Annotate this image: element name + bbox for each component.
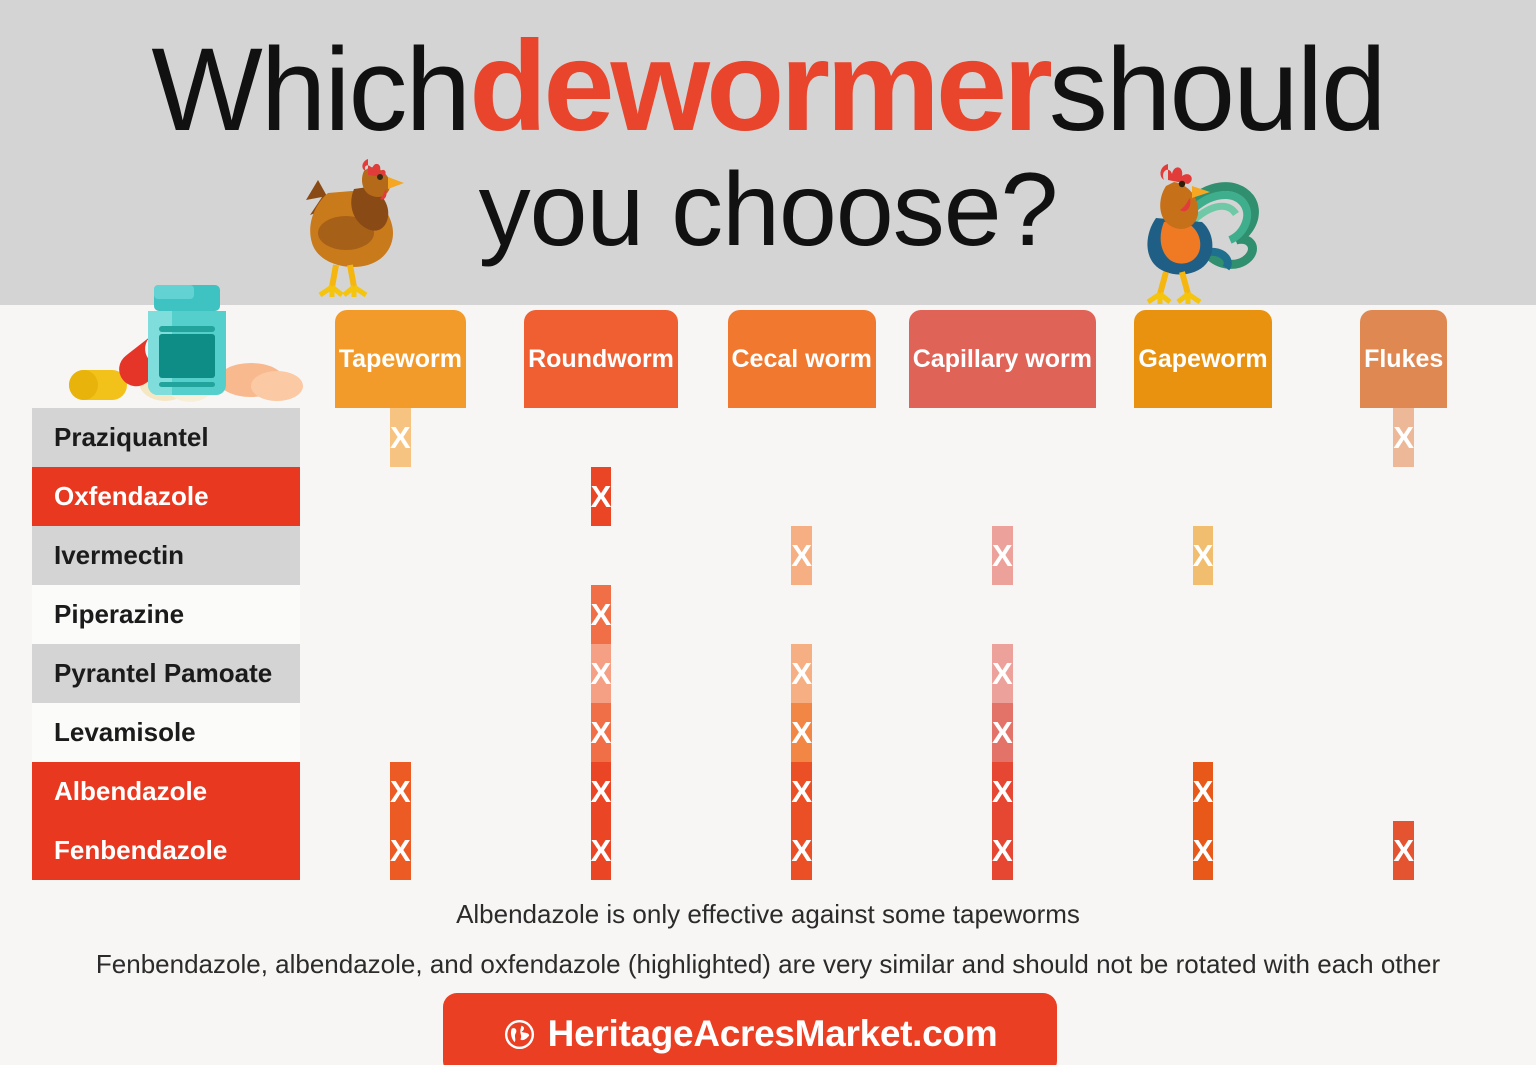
row-label-levamisole: Levamisole [32, 703, 300, 762]
cell-albendazole-gapeworm: X [1193, 762, 1214, 821]
globe-icon [503, 1018, 536, 1051]
table-row: Pyrantel PamoateXXX [32, 644, 1504, 703]
hen-icon [288, 145, 418, 300]
column-header-gapeworm: Gapeworm [1134, 310, 1271, 408]
table-row: IvermectinXXX [32, 526, 1504, 585]
table-row: OxfendazoleX [32, 467, 1504, 526]
brand-label: HeritageAcresMarket.com [548, 1013, 998, 1055]
cell-albendazole-cecal-worm: X [791, 762, 812, 821]
column-header-flukes: Flukes [1360, 310, 1447, 408]
cell-pyrantel-pamoate-cecal-worm: X [791, 644, 812, 703]
row-label-piperazine: Piperazine [32, 585, 300, 644]
table-body: PraziquantelXXOxfendazoleXIvermectinXXXP… [32, 408, 1504, 880]
row-label-fenbendazole: Fenbendazole [32, 821, 300, 880]
cell-albendazole-capillary-worm: X [992, 762, 1013, 821]
table-header-row: Tapeworm Roundworm Cecal worm Capillary … [32, 310, 1504, 408]
cell-ivermectin-gapeworm: X [1193, 526, 1214, 585]
table-row: PraziquantelXX [32, 408, 1504, 467]
page-title-line2: you choose? [0, 158, 1536, 262]
cell-pyrantel-pamoate-capillary-worm: X [992, 644, 1013, 703]
table-row: AlbendazoleXXXXX [32, 762, 1504, 821]
dewormer-efficacy-table: Tapeworm Roundworm Cecal worm Capillary … [32, 310, 1504, 880]
title-word-should: should [1049, 24, 1385, 156]
cell-praziquantel-flukes: X [1393, 408, 1414, 467]
cell-fenbendazole-cecal-worm: X [791, 821, 812, 880]
cell-oxfendazole-roundworm: X [591, 467, 612, 526]
cell-praziquantel-tapeworm: X [390, 408, 411, 467]
column-header-capillary-worm: Capillary worm [909, 310, 1096, 408]
row-label-pyrantel-pamoate: Pyrantel Pamoate [32, 644, 300, 703]
title-word-dewormer: dewormer [469, 15, 1049, 158]
title-word-which: Which [151, 24, 469, 156]
cell-levamisole-roundworm: X [591, 703, 612, 762]
cell-fenbendazole-flukes: X [1393, 821, 1414, 880]
row-label-praziquantel: Praziquantel [32, 408, 300, 467]
footnote-rotation: Fenbendazole, albendazole, and oxfendazo… [0, 949, 1536, 980]
brand-button[interactable]: HeritageAcresMarket.com [443, 993, 1057, 1065]
cell-albendazole-roundworm: X [591, 762, 612, 821]
table-row: FenbendazoleXXXXXX [32, 821, 1504, 880]
row-label-albendazole: Albendazole [32, 762, 300, 821]
cell-levamisole-cecal-worm: X [791, 703, 812, 762]
cell-fenbendazole-tapeworm: X [390, 821, 411, 880]
table-row: LevamisoleXXX [32, 703, 1504, 762]
cell-albendazole-tapeworm: X [390, 762, 411, 821]
column-header-tapeworm: Tapeworm [335, 310, 466, 408]
row-label-oxfendazole: Oxfendazole [32, 467, 300, 526]
cell-levamisole-capillary-worm: X [992, 703, 1013, 762]
cell-ivermectin-capillary-worm: X [992, 526, 1013, 585]
cell-pyrantel-pamoate-roundworm: X [591, 644, 612, 703]
rooster-icon [1110, 140, 1260, 305]
cell-fenbendazole-capillary-worm: X [992, 821, 1013, 880]
column-header-cecal-worm: Cecal worm [728, 310, 876, 408]
infographic-root: Whichdewormershould you choose? [0, 0, 1536, 1065]
page-title-line1: Whichdewormershould [0, 28, 1536, 149]
footnote-albendazole: Albendazole is only effective against so… [0, 899, 1536, 930]
cell-fenbendazole-roundworm: X [591, 821, 612, 880]
table-row: PiperazineX [32, 585, 1504, 644]
cell-fenbendazole-gapeworm: X [1193, 821, 1214, 880]
row-label-ivermectin: Ivermectin [32, 526, 300, 585]
cell-ivermectin-cecal-worm: X [791, 526, 812, 585]
table-corner-cell [32, 310, 300, 408]
cell-piperazine-roundworm: X [591, 585, 612, 644]
column-header-roundworm: Roundworm [524, 310, 678, 408]
